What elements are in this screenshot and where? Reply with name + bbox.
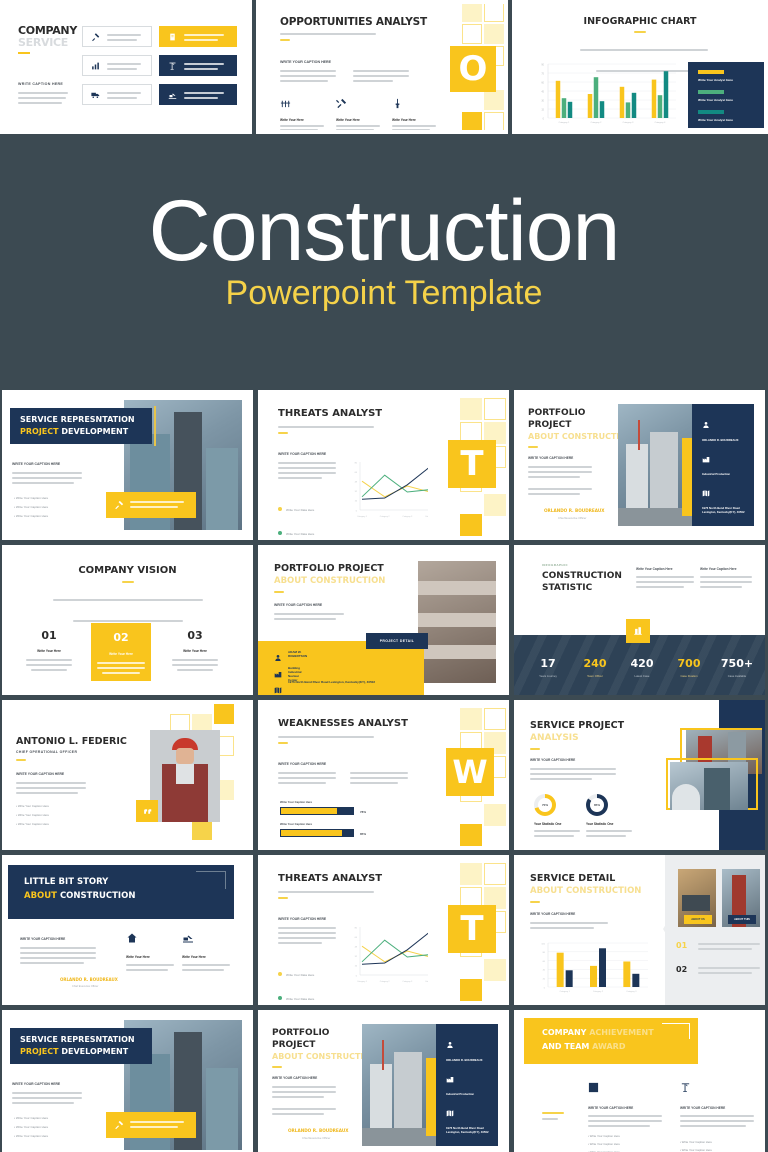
big-letter-tile: T bbox=[448, 440, 496, 488]
progress-bar bbox=[280, 829, 354, 837]
info-label: ADAM W. ROBERTSON bbox=[288, 650, 307, 658]
svg-text:Category 2: Category 2 bbox=[380, 515, 391, 518]
lorem-line bbox=[636, 581, 694, 583]
title-underline bbox=[278, 742, 288, 744]
signature-role: Chief Executive Officer bbox=[302, 1136, 330, 1140]
signature-role: Chief Executive Officer bbox=[558, 516, 586, 520]
caption-heading: WRITE YOUR CAPTION HERE bbox=[278, 917, 326, 921]
lorem-line bbox=[12, 472, 82, 474]
map-icon bbox=[446, 1109, 454, 1117]
slide-title: OPPORTUNITIES ANALYST bbox=[280, 16, 427, 28]
donut-value: 70% bbox=[538, 798, 552, 812]
legend-swatch bbox=[698, 110, 724, 114]
lorem-line bbox=[278, 937, 336, 939]
lorem-line bbox=[280, 125, 324, 127]
progress-item-2: Write Your Caption Here 85% bbox=[280, 822, 354, 837]
lorem-line bbox=[698, 972, 752, 974]
callout-box[interactable] bbox=[106, 1112, 196, 1138]
lorem-line bbox=[588, 1125, 650, 1127]
person-icon bbox=[446, 1041, 454, 1049]
lorem-line bbox=[274, 613, 344, 615]
lorem-line bbox=[278, 777, 336, 779]
lorem-line bbox=[580, 49, 708, 51]
feature-label: Write Your Here bbox=[336, 118, 380, 122]
lorem-line bbox=[184, 34, 224, 36]
lorem-line bbox=[280, 80, 328, 82]
slide-title-line1: SERVICE REPRESNTATION bbox=[20, 1035, 135, 1044]
bullet-item: • Write Your Caption Here bbox=[16, 804, 49, 808]
feature-item-2[interactable]: Write Your Here bbox=[182, 931, 230, 971]
bullet-item: • Write Your Caption Here bbox=[16, 822, 49, 826]
lorem-line bbox=[130, 1126, 178, 1128]
bar-chart: 100806040200Category 1Category 2Category… bbox=[536, 941, 648, 993]
service-row-outline-3[interactable] bbox=[82, 84, 152, 105]
lorem-line bbox=[184, 68, 218, 70]
lorem-line bbox=[542, 1118, 558, 1120]
svg-text:75: 75 bbox=[541, 72, 544, 75]
page-subtitle: Powerpoint Template bbox=[0, 276, 768, 310]
about-this-button[interactable]: ABOUT THIS bbox=[728, 915, 756, 924]
slide-title-line2: SERVICE bbox=[18, 36, 68, 49]
slide-title: INFOGRAPHIC CHART bbox=[516, 16, 764, 27]
lorem-line bbox=[700, 586, 742, 588]
lorem-line bbox=[16, 782, 86, 784]
svg-text:80: 80 bbox=[355, 927, 358, 929]
title-underline bbox=[278, 432, 288, 434]
chart-icon bbox=[588, 1082, 599, 1093]
crane-icon bbox=[680, 1082, 691, 1093]
title-underline bbox=[530, 748, 540, 750]
lorem-line bbox=[534, 835, 574, 837]
svg-text:Category 2: Category 2 bbox=[591, 121, 602, 124]
member-name: ANTONIO L. FEDERIC bbox=[16, 736, 127, 747]
stat-label: Case Available bbox=[714, 674, 760, 678]
lorem-line bbox=[350, 782, 398, 784]
caption-heading: WRITE YOUR CAPTION HERE bbox=[272, 1076, 317, 1080]
info-panel: ADAM W. ROBERTSON Building Industrial Nu… bbox=[258, 641, 424, 695]
slide-title-ghost: ANALYSIS bbox=[530, 733, 579, 743]
slide-title-line1: LITTLE BIT STORY bbox=[24, 877, 108, 887]
lorem-line bbox=[18, 97, 66, 99]
lorem-line bbox=[278, 772, 336, 774]
lorem-line bbox=[274, 618, 336, 620]
feature-item[interactable]: Write Your Here bbox=[336, 96, 380, 130]
slide-title: THREATS ANALYST bbox=[278, 873, 382, 884]
slide-title-line1: CONSTRUCTION bbox=[542, 571, 622, 582]
lorem-line bbox=[97, 662, 145, 664]
svg-text:Category 4: Category 4 bbox=[655, 121, 666, 124]
stat-label: Latest Case bbox=[620, 674, 664, 678]
title-underline bbox=[528, 446, 538, 448]
svg-text:0: 0 bbox=[544, 987, 546, 989]
caption-block-2: Write Your Caption Here bbox=[700, 567, 752, 588]
service-row-navy-2[interactable] bbox=[159, 84, 237, 105]
lorem-line bbox=[278, 927, 336, 929]
legend-label: Write Your Analyst Here bbox=[698, 78, 733, 82]
big-letter: T bbox=[448, 905, 496, 953]
lorem-line bbox=[280, 129, 318, 130]
info-item: 1976 North Bend River Road Lexington, Ke… bbox=[274, 681, 282, 699]
legend-label: Write Your Analyst Here bbox=[698, 98, 733, 102]
svg-text:Category 3: Category 3 bbox=[623, 121, 634, 124]
svg-text:40: 40 bbox=[543, 970, 546, 972]
slide-infographic-chart[interactable]: INFOGRAPHIC CHART 9075604530150Category … bbox=[512, 0, 768, 134]
bullet-item: • Write Your Caption Here bbox=[588, 1142, 662, 1146]
slide-photo bbox=[618, 404, 692, 526]
map-icon bbox=[702, 489, 710, 497]
lorem-line bbox=[184, 39, 218, 41]
slide-title: SERVICE DETAIL bbox=[530, 873, 615, 884]
stat-label: Years Journey bbox=[526, 674, 570, 678]
card-number: 02 bbox=[91, 631, 151, 644]
lorem-line bbox=[278, 472, 336, 474]
caption-heading: Write Your Caption Here bbox=[700, 567, 752, 571]
lorem-line bbox=[20, 957, 96, 959]
lorem-line bbox=[698, 948, 752, 950]
svg-text:0: 0 bbox=[356, 510, 358, 512]
title-underline bbox=[530, 901, 540, 903]
lorem-line bbox=[698, 943, 760, 945]
slide-opportunities-analyst[interactable]: O OPPORTUNITIES ANALYST WRITE YOUR CAPTI… bbox=[256, 0, 508, 134]
svg-text:64: 64 bbox=[355, 937, 358, 939]
building-icon bbox=[633, 626, 643, 636]
lorem-line bbox=[278, 782, 326, 784]
line-chart: 80644832160Category 1Category 2Category … bbox=[348, 460, 428, 518]
lorem-line bbox=[172, 659, 218, 661]
svg-text:100: 100 bbox=[541, 943, 545, 945]
person-icon bbox=[702, 421, 710, 429]
lorem-line bbox=[126, 964, 174, 966]
lorem-line bbox=[700, 581, 752, 583]
excavator-icon bbox=[182, 932, 194, 944]
info-sidebar: ORLANDO R. BOUDREAUX Industrial Producti… bbox=[436, 1024, 498, 1146]
member-role: CHIEF OPERATIONAL OFFICER bbox=[16, 750, 77, 754]
signature-role: Chief Executive Officer bbox=[72, 985, 98, 988]
lorem-line bbox=[392, 129, 430, 130]
title-underline bbox=[278, 897, 288, 899]
legend-swatch bbox=[698, 70, 724, 74]
lorem-line bbox=[272, 1086, 336, 1088]
stat-value: 240 bbox=[573, 657, 617, 670]
title-underline bbox=[18, 52, 30, 54]
info-label: ORLANDO R. BOUDREAUX bbox=[702, 438, 739, 442]
factory-icon bbox=[702, 455, 710, 463]
svg-text:64: 64 bbox=[355, 472, 358, 474]
service-row-navy-1[interactable] bbox=[159, 55, 237, 76]
lorem-line bbox=[530, 778, 592, 780]
caption-heading: Write Your Caption Here bbox=[636, 567, 694, 571]
info-label: Industrial Production bbox=[702, 472, 730, 476]
title-underline bbox=[634, 31, 646, 33]
accent-dash bbox=[542, 1112, 564, 1114]
lorem-line bbox=[698, 967, 760, 969]
bullet-item: • Write Your Caption Here bbox=[14, 514, 48, 518]
column-heading: WRITE YOUR CAPTION HERE bbox=[588, 1106, 662, 1110]
lorem-line bbox=[680, 1120, 754, 1122]
slide-photo bbox=[362, 1024, 436, 1146]
lorem-line bbox=[107, 92, 141, 94]
info-sidebar: ORLANDO R. BOUDREAUX Industrial Producti… bbox=[692, 404, 754, 526]
lorem-line bbox=[272, 1091, 336, 1093]
badge-tile bbox=[626, 619, 650, 643]
donut-item-1: 70% Your Statistic One bbox=[534, 794, 580, 837]
lorem-line bbox=[336, 129, 374, 130]
column-heading: WRITE YOUR CAPTION HERE bbox=[680, 1106, 754, 1110]
lorem-line bbox=[272, 1108, 336, 1110]
slide-weaknesses-analyst[interactable]: W WEAKNESSES ANALYST WRITE YOUR CAPTION … bbox=[258, 700, 509, 850]
donut-label: Your Statistic One bbox=[534, 822, 580, 826]
lorem-line bbox=[278, 462, 336, 464]
card-number: 01 bbox=[24, 629, 74, 642]
bullet-item: • Write Your Caption Here bbox=[16, 813, 49, 817]
lorem-line bbox=[16, 787, 86, 789]
lorem-line bbox=[530, 768, 616, 770]
svg-text:90: 90 bbox=[541, 63, 544, 66]
lorem-line bbox=[588, 1115, 662, 1117]
lorem-line bbox=[280, 75, 336, 77]
stat-item: 700 Case Fixation bbox=[667, 657, 711, 678]
slide-portfolio-project-dark-2[interactable]: PORTFOLIO PROJECT ABOUT CONSTRUCTION WRI… bbox=[258, 1010, 509, 1152]
svg-text:Category 2: Category 2 bbox=[380, 980, 391, 983]
bullet-item: • Write Your Caption Here bbox=[14, 1134, 48, 1138]
title-banner: SERVICE REPRESNTATION PROJECT DEVELOPMEN… bbox=[10, 408, 152, 444]
lorem-line bbox=[278, 467, 336, 469]
lorem-line bbox=[26, 664, 72, 666]
lorem-line bbox=[278, 736, 374, 738]
lorem-line bbox=[350, 772, 408, 774]
slide-title-line2: PROJECT DEVELOPMENT bbox=[20, 427, 128, 436]
feature-item[interactable]: Write Your Here bbox=[280, 96, 324, 130]
slide-photo-2 bbox=[670, 762, 748, 810]
lorem-line bbox=[528, 476, 580, 478]
stat-value: 700 bbox=[667, 657, 711, 670]
service-row-outline-1[interactable] bbox=[82, 26, 152, 47]
slide-portfolio-project-dark[interactable]: PORTFOLIO PROJECT ABOUT CONSTRUCTION WRI… bbox=[514, 390, 765, 540]
info-label: Industrial Production bbox=[446, 1092, 474, 1096]
feature-item[interactable]: Write Your Here bbox=[392, 96, 436, 130]
caption-heading: WRITE YOUR CAPTION HERE bbox=[530, 758, 575, 762]
lorem-line bbox=[184, 92, 224, 94]
progress-value: 78% bbox=[360, 810, 366, 814]
lorem-line bbox=[350, 777, 408, 779]
card-label: Write Your Here bbox=[170, 649, 220, 653]
stat-label: Team Officer bbox=[573, 674, 617, 678]
slide-service-representation-2[interactable]: SERVICE REPRESNTATION PROJECT DEVELOPMEN… bbox=[2, 1010, 253, 1152]
slide-team-member[interactable]: ANTONIO L. FEDERIC CHIEF OPERATIONAL OFF… bbox=[2, 700, 253, 850]
donut-chart: 85% bbox=[586, 794, 608, 816]
card-label: Write Your Here bbox=[91, 652, 151, 656]
lorem-line bbox=[184, 63, 224, 65]
excavator-icon bbox=[168, 90, 177, 99]
hammer-icon bbox=[91, 32, 100, 41]
svg-text:32: 32 bbox=[355, 491, 358, 493]
lorem-line bbox=[126, 969, 168, 971]
svg-text:Category 1: Category 1 bbox=[357, 515, 368, 518]
slide-title-line2: PROJECT DEVELOPMENT bbox=[20, 1047, 128, 1056]
slide-portfolio-project-light[interactable]: PORTFOLIO PROJECT ABOUT CONSTRUCTION WRI… bbox=[258, 545, 509, 695]
corner-decoration bbox=[662, 1023, 690, 1039]
feature-label: Write Your Here bbox=[182, 955, 230, 959]
lorem-line bbox=[636, 576, 694, 578]
quote-icon bbox=[143, 807, 152, 816]
lorem-line bbox=[636, 586, 684, 588]
lorem-line bbox=[20, 962, 84, 964]
slide-title-line2: PROJECT bbox=[528, 420, 571, 431]
vision-card-2[interactable]: 02 Write Your Here bbox=[91, 623, 151, 681]
lorem-line bbox=[12, 1097, 82, 1099]
slide-little-bit-story[interactable]: LITTLE BIT STORY ABOUT CONSTRUCTION WRIT… bbox=[2, 855, 253, 1005]
caption-heading: WRITE YOUR CAPTION HERE bbox=[530, 912, 575, 916]
signature-name: ORLANDO R. BOUDREAUX bbox=[544, 508, 605, 513]
svg-text:48: 48 bbox=[355, 947, 358, 949]
numbered-item-1: 01 bbox=[676, 941, 760, 959]
stat-item: 17 Years Journey bbox=[526, 657, 570, 678]
item-number: 02 bbox=[676, 965, 687, 974]
drill-icon bbox=[392, 98, 403, 109]
eyebrow-label: INFOGRAPHIC bbox=[542, 563, 568, 567]
svg-text:16: 16 bbox=[355, 966, 358, 968]
progress-fill bbox=[281, 830, 342, 836]
slide-threats-analyst-2[interactable]: T THREATS ANALYST WRITE YOUR CAPTION HER… bbox=[258, 855, 509, 1005]
caption-block-1: Write Your Caption Here bbox=[636, 567, 694, 588]
lorem-line bbox=[528, 493, 580, 495]
title-underline bbox=[122, 581, 134, 583]
lorem-line bbox=[278, 932, 336, 934]
legend-swatch bbox=[698, 90, 724, 94]
badge-tile bbox=[136, 800, 158, 822]
lorem-line bbox=[534, 830, 580, 832]
signature-name: ORLANDO R. BOUDREAUX bbox=[60, 977, 118, 982]
lorem-line bbox=[278, 891, 374, 893]
svg-text:30: 30 bbox=[541, 99, 544, 102]
lorem-line bbox=[12, 482, 74, 484]
bullet-item: • Write Your Caption Here bbox=[14, 1116, 48, 1120]
crane-icon bbox=[168, 61, 177, 70]
svg-text:15: 15 bbox=[541, 108, 544, 111]
slide-title-line1: PORTFOLIO bbox=[528, 408, 585, 419]
svg-text:Category 1: Category 1 bbox=[559, 121, 570, 124]
vision-card-3[interactable]: 03 Write Your Here bbox=[170, 629, 220, 671]
svg-text:60: 60 bbox=[541, 81, 544, 84]
lorem-line bbox=[12, 1092, 82, 1094]
lorem-line bbox=[12, 1102, 74, 1104]
svg-text:80: 80 bbox=[355, 462, 358, 464]
slide-service-detail[interactable]: SERVICE DETAIL ABOUT CONSTRUCTION WRITE … bbox=[514, 855, 765, 1005]
slide-title: WEAKNESSES ANALYST bbox=[278, 718, 408, 729]
feature-label: Write Your Here bbox=[280, 118, 324, 122]
lorem-line bbox=[353, 75, 409, 77]
legend-label: Write Your Analyst Here bbox=[698, 118, 733, 122]
svg-text:0: 0 bbox=[543, 117, 545, 120]
feature-item-1[interactable]: Write Your Here bbox=[126, 931, 174, 971]
service-row-outline-2[interactable] bbox=[82, 55, 152, 76]
callout-box[interactable] bbox=[106, 492, 196, 518]
fence-icon bbox=[280, 98, 291, 109]
big-letter: O bbox=[450, 46, 496, 92]
bar-chart: 9075604530150Category 1Category 2Categor… bbox=[536, 62, 676, 124]
slide-title: PORTFOLIO PROJECT bbox=[274, 563, 384, 574]
slide-title: SERVICE PROJECT bbox=[530, 720, 624, 731]
button-label: ABOUT THIS bbox=[734, 918, 750, 921]
lorem-line bbox=[586, 835, 626, 837]
donut-label: Your Statistic One bbox=[586, 822, 632, 826]
lorem-line bbox=[588, 1120, 662, 1122]
service-row-yellow[interactable] bbox=[159, 26, 237, 47]
svg-text:80: 80 bbox=[543, 952, 546, 954]
svg-text:Category 3: Category 3 bbox=[402, 515, 413, 518]
slide-threats-analyst-1[interactable]: T THREATS ANALYST WRITE YOUR CAPTION HER… bbox=[258, 390, 509, 540]
lorem-line bbox=[177, 669, 213, 671]
big-letter-tile: W bbox=[446, 748, 494, 796]
svg-text:Category 2: Category 2 bbox=[593, 990, 604, 993]
slide-title-line1: COMPANY ACHIEVEMENT bbox=[542, 1028, 654, 1037]
caption-heading: WRITE YOUR CAPTION HERE bbox=[278, 452, 326, 456]
bullet-item: • Write Your Caption Here bbox=[14, 505, 48, 509]
lorem-line bbox=[16, 792, 78, 794]
slide-company-vision[interactable]: COMPANY VISION 01 Write Your Here 02 Wri… bbox=[2, 545, 253, 695]
slide-service-project[interactable]: SERVICE PROJECT ANALYSIS WRITE YOUR CAPT… bbox=[514, 700, 765, 850]
slide-construction-statistic[interactable]: INFOGRAPHIC CONSTRUCTION STATISTIC Write… bbox=[514, 545, 765, 695]
progress-label: Write Your Caption Here bbox=[280, 800, 354, 804]
lorem-line bbox=[586, 830, 632, 832]
card-number: 03 bbox=[170, 629, 220, 642]
lorem-line bbox=[31, 669, 67, 671]
slide-company-service[interactable]: COMPANY SERVICE WRITE CAPTION HERE bbox=[0, 0, 252, 134]
feature-label: Write Your Here bbox=[392, 118, 436, 122]
lorem-line bbox=[130, 506, 178, 508]
lorem-line bbox=[530, 927, 594, 929]
progress-value: 85% bbox=[360, 832, 366, 836]
lorem-line bbox=[182, 964, 230, 966]
slide-service-representation[interactable]: SERVICE REPRESNTATION PROJECT DEVELOPMEN… bbox=[2, 390, 253, 540]
slide-title-line2: ABOUT CONSTRUCTION bbox=[24, 891, 135, 901]
lorem-line bbox=[107, 63, 141, 65]
lorem-line bbox=[528, 488, 592, 490]
about-us-button[interactable]: ABOUT US bbox=[684, 915, 712, 924]
lorem-line bbox=[26, 659, 72, 661]
lorem-line bbox=[107, 34, 141, 36]
legend-item: Write Your Data Here bbox=[278, 963, 314, 981]
progress-fill bbox=[281, 808, 337, 814]
factory-icon bbox=[446, 1075, 454, 1083]
slide-title-line1: PORTFOLIO bbox=[272, 1028, 329, 1039]
item-number: 01 bbox=[676, 941, 687, 950]
big-letter: W bbox=[446, 748, 494, 796]
caption-heading: WRITE YOUR CAPTION HERE bbox=[20, 937, 65, 941]
svg-text:Category 4: Category 4 bbox=[425, 980, 428, 983]
info-item: Industrial Production bbox=[702, 450, 730, 476]
chart-legend-panel: Write Your Analyst Here Write Your Analy… bbox=[688, 62, 764, 128]
slide-title: COMPANY VISION bbox=[2, 565, 253, 576]
slide-company-achievement[interactable]: COMPANY ACHIEVEMENT AND TEAM AWARD WRITE… bbox=[514, 1010, 765, 1152]
caption-heading: WRITE YOUR CAPTION HERE bbox=[280, 60, 331, 64]
lorem-line bbox=[528, 466, 592, 468]
progress-bar bbox=[280, 807, 354, 815]
person-icon bbox=[274, 654, 282, 662]
caption-heading: WRITE YOUR CAPTION HERE bbox=[274, 603, 322, 607]
svg-text:Category 3: Category 3 bbox=[402, 980, 413, 983]
lorem-line bbox=[73, 620, 183, 622]
lorem-line bbox=[680, 1115, 754, 1117]
bullet-item: • Write Your Caption Here bbox=[14, 496, 48, 500]
project-detail-button[interactable]: PROJECT DETAIL bbox=[366, 633, 428, 649]
lorem-line bbox=[272, 1113, 324, 1115]
vision-card-1[interactable]: 01 Write Your Here bbox=[24, 629, 74, 671]
lorem-line bbox=[130, 1121, 184, 1123]
big-letter-tile: O bbox=[450, 46, 496, 92]
big-letter: T bbox=[448, 440, 496, 488]
slide-title-ghost: ABOUT CONSTRUCTION bbox=[530, 886, 641, 896]
